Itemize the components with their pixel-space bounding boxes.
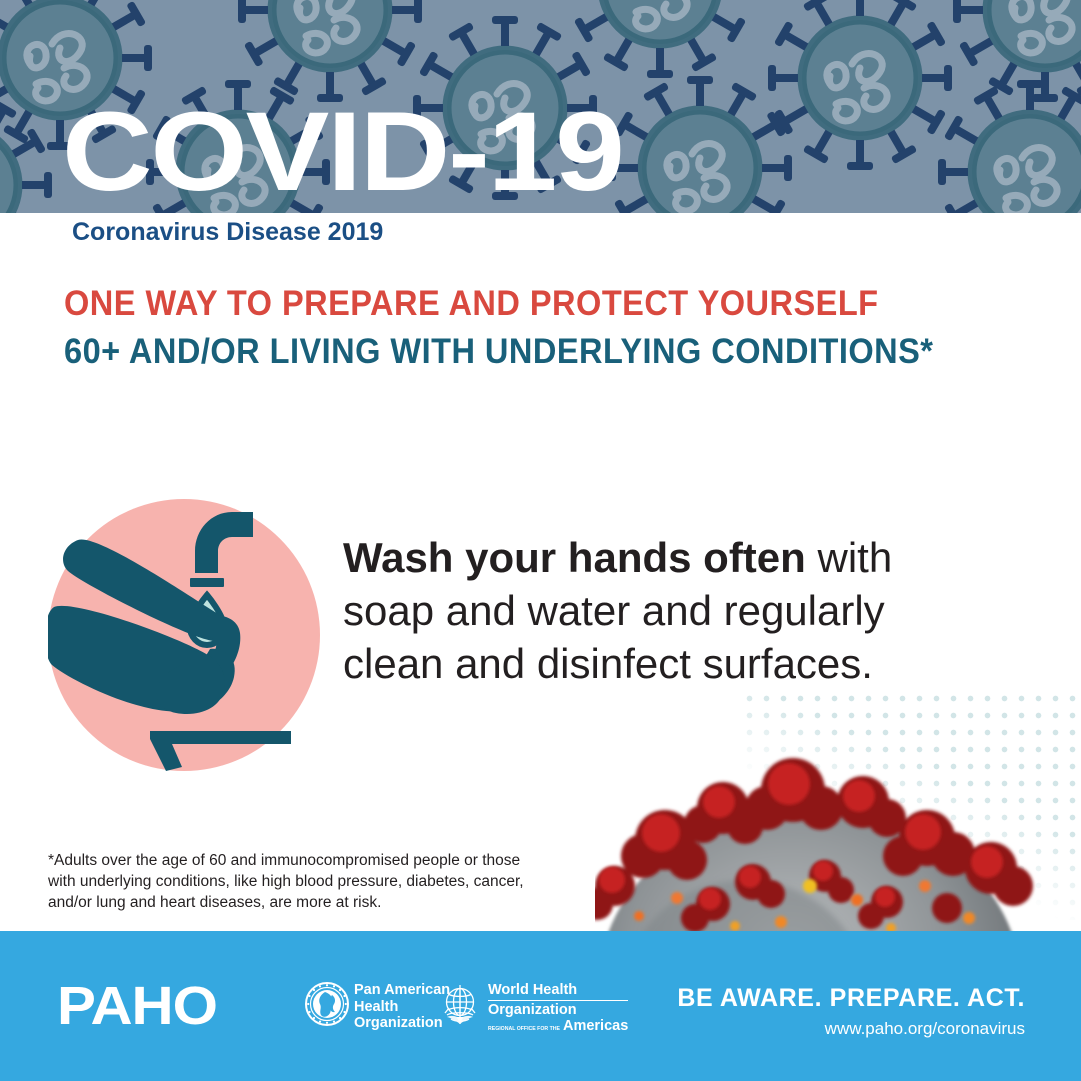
footer-url-link[interactable]: www.paho.org/coronavirus	[825, 1019, 1025, 1039]
main-message: Wash your hands often with soap and wate…	[343, 531, 943, 690]
who-region-name: Americas	[563, 1018, 628, 1034]
paho-logo-lockup: Pan American Health Organization	[305, 982, 450, 1032]
page-title: COVID-19	[62, 96, 623, 208]
headline-primary: ONE WAY TO PREPARE AND PROTECT YOURSELF	[64, 283, 879, 325]
page-subtitle: Coronavirus Disease 2019	[72, 218, 383, 247]
paho-org-line1: Pan American	[354, 982, 450, 999]
who-region-prefix: REGIONAL OFFICE FOR THE	[488, 1025, 560, 1033]
main-message-lead: Wash your hands often	[343, 534, 806, 581]
who-org-name: World Health Organization REGIONAL OFFIC…	[488, 982, 628, 1034]
who-org-line1: World Health	[488, 982, 628, 999]
covid-infographic-poster: COVID-19 Coronavirus Disease 2019 ONE WA…	[0, 0, 1081, 1081]
who-region-line: REGIONAL OFFICE FOR THE Americas	[488, 1018, 628, 1034]
paho-org-line3: Organization	[354, 1015, 450, 1032]
handwashing-icon	[48, 499, 320, 771]
virus-photo-illustration	[595, 690, 1081, 932]
paho-globe-icon	[305, 982, 349, 1026]
paho-org-line2: Health	[354, 999, 450, 1016]
paho-org-name: Pan American Health Organization	[354, 982, 450, 1032]
who-emblem-icon	[437, 982, 483, 1026]
paho-wordmark: PAHO	[57, 979, 217, 1033]
sars-cov-2-render	[595, 690, 1081, 932]
who-org-line2: Organization	[488, 1000, 628, 1019]
footer-tagline: BE AWARE. PREPARE. ACT.	[677, 984, 1025, 1013]
who-logo-lockup: World Health Organization REGIONAL OFFIC…	[437, 982, 628, 1034]
header-band: COVID-19	[0, 0, 1081, 213]
headline-secondary: 60+ AND/OR LIVING WITH UNDERLYING CONDIT…	[64, 331, 933, 373]
footnote-text: *Adults over the age of 60 and immunocom…	[48, 850, 548, 913]
